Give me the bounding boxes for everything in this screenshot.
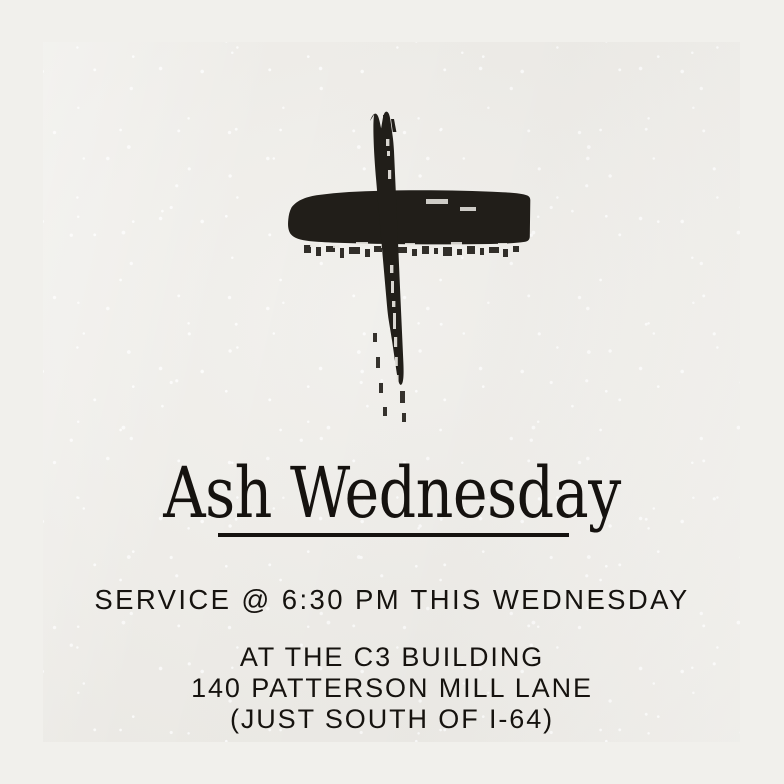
address-line-note: (JUST SOUTH OF I-64) bbox=[0, 704, 784, 735]
ash-cross-icon bbox=[250, 95, 550, 450]
title-underline-rule bbox=[218, 533, 569, 537]
service-time-line: SERVICE @ 6:30 PM THIS WEDNESDAY bbox=[0, 586, 784, 614]
address-line-venue: AT THE C3 BUILDING bbox=[0, 642, 784, 673]
ash-wednesday-poster: Ash Wednesday SERVICE @ 6:30 PM THIS WED… bbox=[0, 0, 784, 784]
address-block: AT THE C3 BUILDING 140 PATTERSON MILL LA… bbox=[0, 642, 784, 735]
page-title: Ash Wednesday bbox=[27, 458, 756, 528]
address-line-street: 140 PATTERSON MILL LANE bbox=[0, 673, 784, 704]
